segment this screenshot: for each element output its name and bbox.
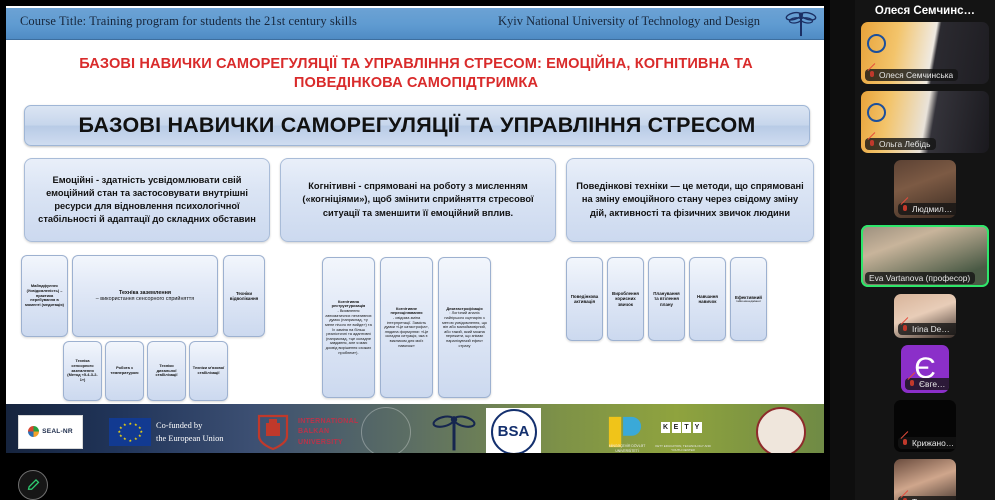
kety-letter-2: T (682, 422, 691, 433)
meeting-screen: Course Title: Training program for stude… (0, 0, 995, 500)
participant-nameplate: Irina Dementovich (898, 323, 956, 335)
mic-muted-icon (909, 380, 916, 389)
node-behavioral-2-head: Планування та втілення плану (651, 291, 682, 307)
institute-banner-overlay (867, 103, 919, 133)
subnode-breathing: Техніки дихальної стабілізації (147, 341, 186, 401)
subnode-label-1: Робота з температурою (108, 366, 141, 375)
eu-funding-text: Co-funded by the European Union (156, 418, 223, 444)
participant-name: Людмила Володимирі… (912, 204, 956, 214)
definition-lead-1: Когнітивні (308, 181, 356, 191)
presentation-slide: Course Title: Training program for stude… (6, 6, 824, 453)
participant-tile[interactable]: Eva Vartanova (професор) (861, 225, 989, 287)
node-behavioral-1-head: Вироблення корисних звичок (610, 291, 641, 307)
slide-banner: БАЗОВІ НАВИЧКИ САМОРЕГУЛЯЦІЇ ТА УПРАВЛІН… (24, 105, 810, 146)
kety-sublabel: KETY EDUCATION, TECHNOLOGY AND YOUTH CEN… (654, 444, 712, 452)
subnode-sensory-grounding: Техніка сенсорного заземлення (Метод «5-… (63, 341, 102, 401)
kntu-dragonfly-logo (784, 8, 818, 41)
participant-nameplate: Олеся Семчинська (865, 69, 958, 81)
kety-letter-3: Y (693, 422, 702, 433)
ibu-text: INTERNATIONAL BALKAN UNIVERSITY (298, 417, 359, 450)
participant-name: Eva Vartanova (професор) (869, 273, 970, 283)
node-grounding: Техніка заземлення – використання сенсор… (72, 255, 218, 337)
participant-name: Євгеній Качанов (919, 379, 949, 389)
participant-tile[interactable]: Ольга Лебідь (861, 91, 989, 153)
node-cognitive-reappraisal-body: - свідома зміна інтерпретації. Замість д… (383, 316, 430, 348)
participant-tile[interactable]: ЄЄвгеній Качанов (901, 345, 949, 393)
node-useful-habits: Вироблення корисних звичок (607, 257, 644, 341)
partner-logos-band: SEAL-NR ★★★★★★★★★★★★ Co-funded by the Eu… (6, 404, 824, 453)
participant-tile[interactable]: Крижановська Аполлі… (894, 400, 956, 452)
kety-logo: KETY (661, 422, 703, 442)
bsa-latvia-logo: BSA (486, 408, 541, 454)
node-mindfulness-head: Майндфулнес (Усвідомленість) – практика … (24, 284, 65, 307)
slide-red-title: БАЗОВІ НАВИЧКИ САМОРЕГУЛЯЦІЇ ТА УПРАВЛІН… (36, 55, 796, 94)
seal-nr-label: SEAL-NR (42, 428, 73, 435)
participant-name: Irina Dementovich (912, 324, 956, 334)
mic-muted-icon (902, 205, 909, 214)
kety-letter-0: K (661, 422, 670, 433)
university-seal-logo-2 (756, 407, 806, 454)
node-time-management: Ефективний тайм-менеджмент (730, 257, 767, 341)
participant-nameplate: Євгеній Качанов (905, 378, 949, 390)
participant-nameplate: Людмила Володимирі… (898, 203, 956, 215)
node-cognitive-reappraisal: Когнітивне переоцінювання - свідома змін… (380, 257, 433, 398)
slide-header-bar: Course Title: Training program for stude… (6, 8, 824, 40)
participant-tile[interactable]: Олеся Семчинська (861, 22, 989, 84)
mic-muted-icon (869, 140, 876, 149)
mingachevir-university-label: MİNGƏÇEVİR DÖVLƏT UNİVERSİTETİ (604, 444, 650, 453)
ibu-line2: BALKAN (298, 427, 359, 438)
node-behavioral-0-head: Поведінкова активація (569, 294, 600, 304)
participant-nameplate: Eva Vartanova (професор) (865, 272, 975, 284)
node-planning: Планування та втілення плану (648, 257, 685, 341)
subnode-label-2: Техніки дихальної стабілізації (150, 364, 183, 378)
node-mindfulness: Майндфулнес (Усвідомленість) – практика … (21, 255, 68, 337)
participant-rail[interactable]: Олеся Семчинс… Олеся СемчинськаОльга Леб… (855, 0, 995, 500)
eu-flag-icon: ★★★★★★★★★★★★ (109, 418, 151, 446)
course-title: Course Title: Training program for stude… (20, 14, 357, 29)
bsa-label: BSA (491, 409, 537, 454)
definition-card-behavioral: Поведінкові техніки — це методи, що спря… (566, 158, 814, 242)
ibu-shield-icon (256, 413, 290, 451)
participant-name: Ольга Лебідь (879, 139, 931, 149)
subnode-label-3: Техніки м'язової стабілізації (192, 366, 225, 375)
kntu-dragonfly-logo-2 (431, 409, 477, 454)
node-skills-training: Навчання навичок (689, 257, 726, 341)
definition-lead-2: Поведінкові техніки (576, 181, 668, 191)
pencil-icon (26, 478, 41, 493)
ibu-line1: INTERNATIONAL (298, 417, 359, 428)
participant-tile[interactable]: Irina Dementovich (894, 294, 956, 338)
slide-banner-text: БАЗОВІ НАВИЧКИ САМОРЕГУЛЯЦІЇ ТА УПРАВЛІН… (79, 113, 756, 138)
node-grounding-body: – використання сенсорного сприйняття (96, 296, 194, 302)
node-cognitive-restructuring-body: - Виявлення автоматичних негативних думо… (325, 309, 372, 355)
definitions-row: Емоційні - здатність усвідомлювати свій … (24, 158, 814, 242)
participant-name: Олеся Семчинська (879, 70, 953, 80)
definition-card-emotional: Емоційні - здатність усвідомлювати свій … (24, 158, 270, 242)
participant-name: Крижановська Аполлі… (912, 438, 956, 448)
node-behavioral-3-head: Навчання навичок (692, 294, 723, 304)
definition-lead-0: Емоційні (53, 175, 94, 185)
ibu-line3: UNIVERSITY (298, 438, 359, 449)
mic-muted-icon (902, 439, 909, 448)
subnode-label-0: Техніка сенсорного заземлення (Метод «5-… (66, 359, 99, 382)
participant-tile[interactable]: Тетяна Шаповалова … (894, 459, 956, 500)
institute-banner-overlay (867, 34, 919, 64)
participant-nameplate: Крижановська Аполлі… (898, 437, 956, 449)
eu-funding-line2: the European Union (156, 432, 223, 445)
node-decatastrophizing-body: : Логічний аналіз найгіршого сценарію з … (441, 311, 488, 348)
participant-tile[interactable]: Людмила Володимирі… (894, 160, 956, 218)
annotate-button[interactable] (18, 470, 48, 500)
subnode-muscle: Техніки м'язової стабілізації (189, 341, 228, 401)
definition-card-cognitive: Когнітивні - спрямовані на роботу з мисл… (280, 158, 556, 242)
seal-mark-icon (28, 426, 39, 437)
kety-letter-1: E (672, 422, 681, 433)
international-balkan-university-logo: INTERNATIONAL BALKAN UNIVERSITY (256, 413, 366, 451)
university-name: Kyiv National University of Technology a… (498, 14, 760, 29)
shared-screen-region[interactable]: Course Title: Training program for stude… (0, 0, 830, 500)
node-distraction-head: Техніки відволікання (226, 291, 262, 301)
participant-nameplate: Ольга Лебідь (865, 138, 936, 150)
subnode-temperature: Робота з температурою (105, 341, 144, 401)
mic-muted-icon (902, 325, 909, 334)
university-seal-logo-1 (361, 407, 411, 454)
node-behavioral-activation: Поведінкова активація (566, 257, 603, 341)
eu-funding-line1: Co-funded by (156, 418, 223, 431)
active-speaker-title: Олеся Семчинс… (855, 0, 995, 22)
mic-muted-icon (869, 71, 876, 80)
node-decatastrophizing: Декатастрофізація: Логічний аналіз найгі… (438, 257, 491, 398)
node-behavioral-4-body: тайм-менеджмент (735, 300, 762, 304)
seal-nr-logo: SEAL-NR (18, 415, 83, 449)
node-cognitive-restructuring: Когнітивна реструктуризація - Виявлення … (322, 257, 375, 398)
node-distraction: Техніки відволікання (223, 255, 265, 337)
participant-tiles: Олеся СемчинськаОльга ЛебідьЛюдмила Воло… (855, 22, 995, 500)
participant-nameplate: Тетяна Шаповалова … (898, 496, 956, 500)
